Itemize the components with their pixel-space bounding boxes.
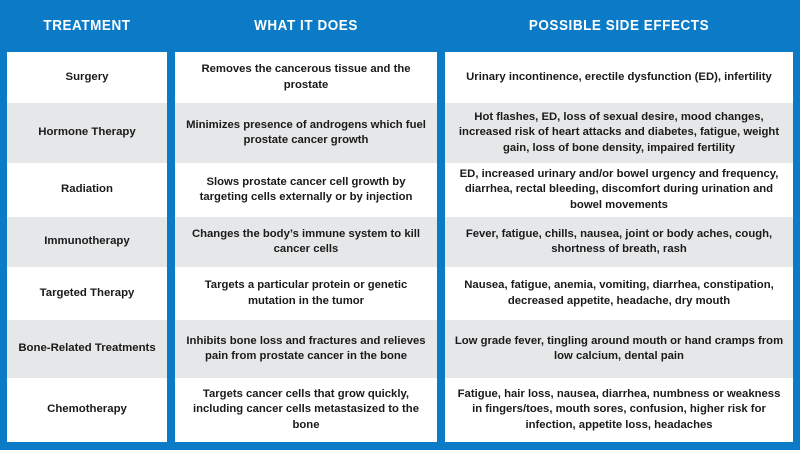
column-divider: [167, 163, 175, 217]
column-divider: [437, 267, 445, 320]
table-row: Surgery Removes the cancerous tissue and…: [7, 52, 793, 103]
column-divider: [437, 217, 445, 267]
cell-treatment: Targeted Therapy: [7, 267, 167, 320]
column-header-treatment: TREATMENT: [13, 18, 162, 34]
table-row: Radiation Slows prostate cancer cell gro…: [7, 163, 793, 217]
cell-what-it-does: Changes the body’s immune system to kill…: [175, 217, 437, 267]
table-row: Targeted Therapy Targets a particular pr…: [7, 267, 793, 320]
table-row: Bone-Related Treatments Inhibits bone lo…: [7, 320, 793, 378]
cell-what-it-does: Minimizes presence of androgens which fu…: [175, 103, 437, 163]
column-divider: [437, 320, 445, 378]
cell-treatment: Immunotherapy: [7, 217, 167, 267]
column-divider: [437, 103, 445, 163]
column-divider: [167, 320, 175, 378]
cell-what-it-does: Slows prostate cancer cell growth by tar…: [175, 163, 437, 217]
cell-side-effects: Hot flashes, ED, loss of sexual desire, …: [445, 103, 793, 163]
table-body: Surgery Removes the cancerous tissue and…: [7, 52, 793, 442]
cell-side-effects: Urinary incontinence, erectile dysfuncti…: [445, 52, 793, 103]
column-divider: [167, 103, 175, 163]
treatment-comparison-table: TREATMENT WHAT IT DOES POSSIBLE SIDE EFF…: [0, 0, 800, 450]
column-divider: [167, 267, 175, 320]
column-divider: [437, 163, 445, 217]
column-divider: [167, 378, 175, 442]
table-row: Hormone Therapy Minimizes presence of an…: [7, 103, 793, 163]
cell-treatment: Bone-Related Treatments: [7, 320, 167, 378]
cell-what-it-does: Targets cancer cells that grow quickly, …: [175, 378, 437, 442]
cell-what-it-does: Inhibits bone loss and fractures and rel…: [175, 320, 437, 378]
cell-treatment: Surgery: [7, 52, 167, 103]
column-header-what-it-does: WHAT IT DOES: [184, 18, 428, 34]
cell-side-effects: Low grade fever, tingling around mouth o…: [445, 320, 793, 378]
column-divider: [437, 378, 445, 442]
column-divider: [167, 217, 175, 267]
cell-side-effects: Nausea, fatigue, anemia, vomiting, diarr…: [445, 267, 793, 320]
table-header-row: TREATMENT WHAT IT DOES POSSIBLE SIDE EFF…: [7, 0, 793, 52]
column-header-possible-side-effects: POSSIBLE SIDE EFFECTS: [457, 18, 781, 34]
column-divider: [167, 52, 175, 103]
cell-what-it-does: Removes the cancerous tissue and the pro…: [175, 52, 437, 103]
cell-side-effects: ED, increased urinary and/or bowel urgen…: [445, 163, 793, 217]
cell-treatment: Chemotherapy: [7, 378, 167, 442]
table-row: Chemotherapy Targets cancer cells that g…: [7, 378, 793, 442]
column-divider: [437, 52, 445, 103]
cell-side-effects: Fatigue, hair loss, nausea, diarrhea, nu…: [445, 378, 793, 442]
cell-treatment: Radiation: [7, 163, 167, 217]
cell-treatment: Hormone Therapy: [7, 103, 167, 163]
cell-side-effects: Fever, fatigue, chills, nausea, joint or…: [445, 217, 793, 267]
table-row: Immunotherapy Changes the body’s immune …: [7, 217, 793, 267]
cell-what-it-does: Targets a particular protein or genetic …: [175, 267, 437, 320]
